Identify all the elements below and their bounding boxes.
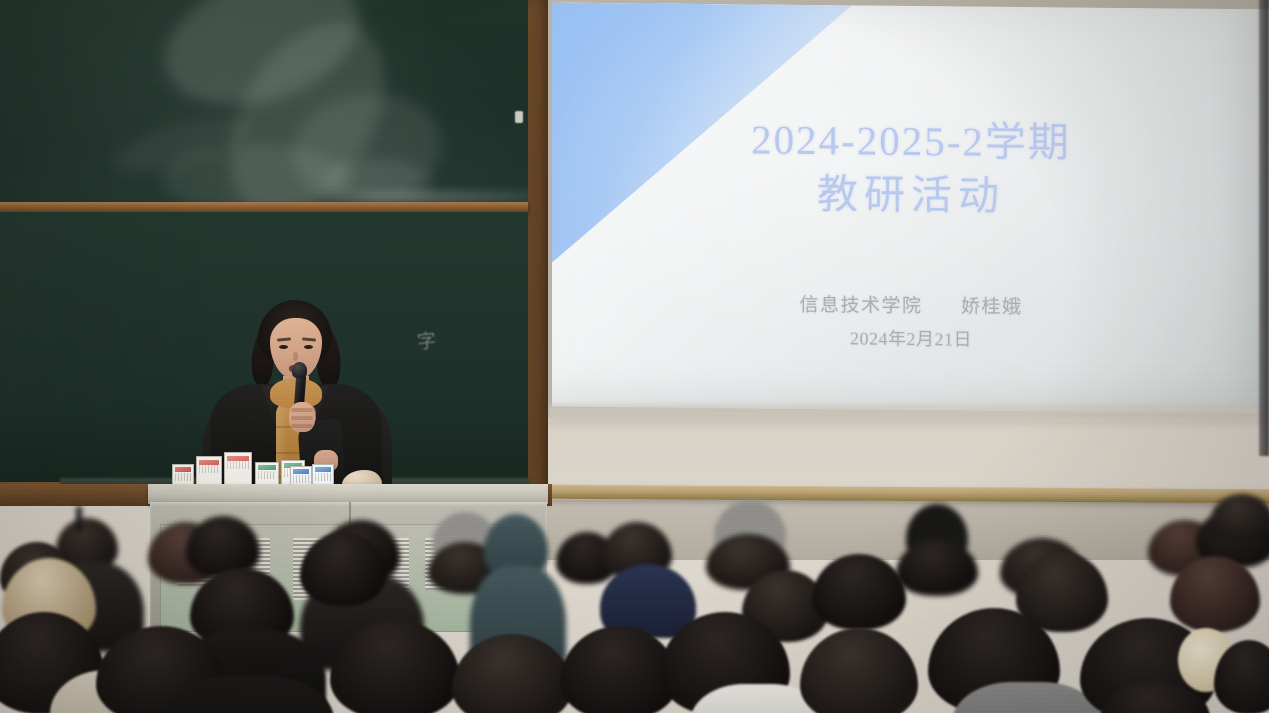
chalk-writing: 字 (416, 330, 465, 369)
slide-subtitle-org: 信息技术学院 (799, 295, 922, 317)
presenter-eye-right (304, 345, 313, 349)
audience-head (812, 554, 906, 630)
presenter-eye-left (279, 345, 288, 349)
audience-head (800, 628, 918, 713)
slide-title: 2024-2025-2学期 教研活动 (552, 111, 1269, 226)
projected-slide: 2024-2025-2学期 教研活动 信息技术学院 娇桂娥 2024年2月21日 (552, 3, 1269, 414)
seated-audience (0, 470, 1269, 713)
chalk-piece (515, 111, 523, 123)
microphone-head (292, 362, 307, 378)
screen-right-edge (1259, 0, 1269, 456)
presenter-nose (293, 352, 298, 361)
slide-subtitle: 信息技术学院 娇桂娥 2024年2月21日 (552, 288, 1269, 359)
slide-title-line1: 2024-2025-2学期 (751, 116, 1071, 165)
slide-title-line2: 教研活动 (552, 165, 1269, 226)
screen-bottom-band (548, 404, 1269, 426)
slide-subtitle-date: 2024年2月21日 (552, 320, 1269, 359)
classroom-photo: 2024-2025-2学期 教研活动 信息技术学院 娇桂娥 2024年2月21日 (0, 0, 1269, 713)
audience-head (1210, 494, 1269, 542)
slide-subtitle-presenter: 娇桂娥 (961, 296, 1023, 318)
projection-screen: 2024-2025-2学期 教研活动 信息技术学院 娇桂娥 2024年2月21日 (548, 0, 1269, 418)
phone-recording (76, 506, 82, 532)
chalkboard-upper-panel (0, 0, 528, 206)
